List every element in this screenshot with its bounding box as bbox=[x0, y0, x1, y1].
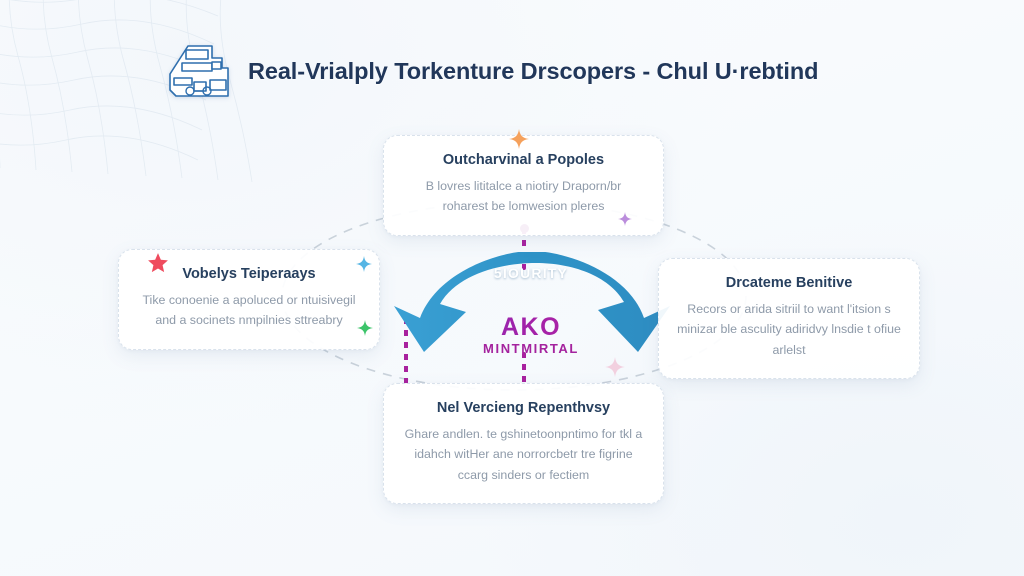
card-top[interactable]: Outcharvinal a Popoles B lovres lititalc… bbox=[383, 135, 664, 236]
core-title: AKO bbox=[386, 313, 676, 342]
card-right-title: Drcateme Benitive bbox=[677, 275, 901, 292]
card-left-body: Tike conoenie a apoluced or ntuisivegil … bbox=[137, 290, 361, 330]
card-left-title: Vobelys Teiperaays bbox=[137, 266, 361, 283]
infographic-canvas: Real-Vrialply Torkenture Drscopers - Chu… bbox=[0, 0, 1024, 576]
page-title: Real-Vrialply Torkenture Drscopers - Chu… bbox=[248, 58, 818, 85]
sparkle-icon-pink bbox=[605, 357, 625, 377]
card-bottom-body: Ghare andlen. te gshinetoonpntimo for tk… bbox=[402, 424, 645, 484]
card-left[interactable]: Vobelys Teiperaays Tike conoenie a apolu… bbox=[118, 249, 380, 350]
core-subtitle: MINTMIRTAL bbox=[386, 341, 676, 356]
card-top-title: Outcharvinal a Popoles bbox=[402, 152, 645, 169]
card-right-body: Recors or arida sitriil to want l'itsion… bbox=[677, 299, 901, 359]
card-bottom-title: Nel Vercieng Repenthvsy bbox=[402, 400, 645, 417]
abstract-building-line-icon bbox=[166, 40, 232, 102]
page-header: Real-Vrialply Torkenture Drscopers - Chu… bbox=[166, 40, 818, 102]
arrow-banner-label: 5IOURITY bbox=[386, 265, 676, 281]
card-bottom[interactable]: Nel Vercieng Repenthvsy Ghare andlen. te… bbox=[383, 383, 664, 504]
card-right[interactable]: Drcateme Benitive Recors or arida sitrii… bbox=[658, 258, 920, 379]
card-top-body: B lovres lititalce a niotiry Draporn/br … bbox=[402, 176, 645, 216]
connector-center-to-bottom bbox=[522, 352, 526, 386]
